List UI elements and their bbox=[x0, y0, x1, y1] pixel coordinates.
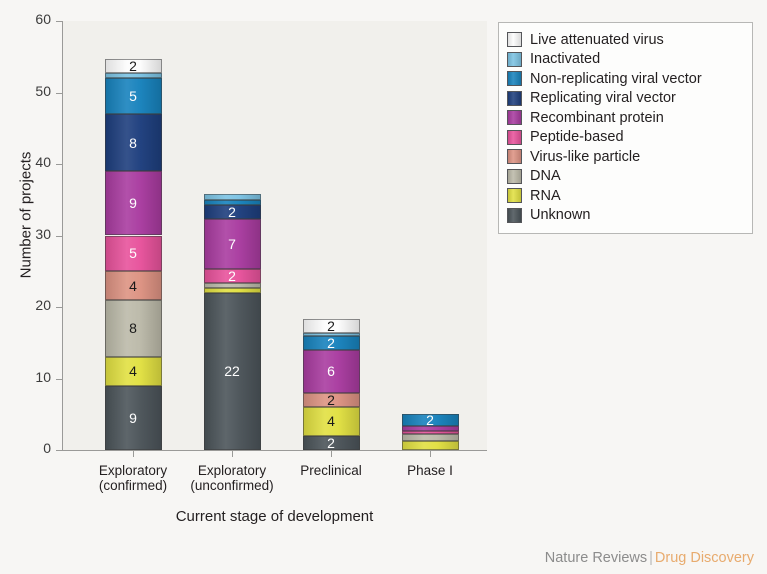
x-axis-tick-label-line: (unconfirmed) bbox=[167, 478, 297, 493]
x-axis-tick-mark bbox=[133, 450, 134, 457]
legend-item[interactable]: Unknown bbox=[507, 206, 744, 226]
bar-segment[interactable]: 2 bbox=[303, 319, 360, 333]
legend-swatch bbox=[507, 110, 522, 125]
x-axis-line bbox=[62, 450, 487, 451]
bar-segment-value: 5 bbox=[106, 89, 161, 103]
bar-stack[interactable]: 242622 bbox=[303, 21, 360, 450]
x-axis-tick-label: Phase I bbox=[365, 463, 495, 478]
y-axis-tick-label: 0 bbox=[43, 440, 51, 456]
y-axis-tick-label: 50 bbox=[35, 83, 51, 99]
x-axis-tick-mark bbox=[331, 450, 332, 457]
bar-segment-value: 6 bbox=[304, 364, 359, 378]
legend-item[interactable]: DNA bbox=[507, 167, 744, 187]
bar-segment-value: 2 bbox=[304, 336, 359, 350]
x-axis-tick-label-line: Phase I bbox=[365, 463, 495, 478]
bar-segment[interactable]: 8 bbox=[105, 114, 162, 171]
legend-item[interactable]: Peptide-based bbox=[507, 128, 744, 148]
footer-journal-name: Nature Reviews bbox=[545, 550, 647, 566]
footer-journal-title: Drug Discovery bbox=[655, 550, 754, 566]
legend-label: Peptide-based bbox=[530, 129, 624, 145]
y-axis-tick-mark bbox=[56, 379, 62, 380]
bar-segment[interactable]: 7 bbox=[204, 219, 261, 269]
bar-segment[interactable]: 4 bbox=[303, 407, 360, 436]
bar-segment[interactable]: 2 bbox=[303, 336, 360, 350]
legend-swatch bbox=[507, 32, 522, 47]
y-axis-tick-mark bbox=[56, 93, 62, 94]
bar-segment[interactable]: 9 bbox=[105, 386, 162, 450]
bar-segment[interactable] bbox=[204, 288, 261, 292]
legend-label: Live attenuated virus bbox=[530, 32, 664, 48]
legend-item[interactable]: Replicating viral vector bbox=[507, 89, 744, 109]
journal-footer: Nature Reviews|Drug Discovery bbox=[545, 550, 754, 566]
bar-segment[interactable] bbox=[204, 283, 261, 288]
bar-segment[interactable] bbox=[402, 434, 459, 441]
bar-segment[interactable]: 5 bbox=[105, 236, 162, 272]
bar-segment-value: 8 bbox=[106, 321, 161, 335]
bar-segment[interactable] bbox=[204, 200, 261, 204]
legend-item[interactable]: Virus-like particle bbox=[507, 147, 744, 167]
y-axis-tick: 30 bbox=[0, 236, 62, 237]
bar-segment[interactable]: 4 bbox=[105, 271, 162, 300]
bar-segment[interactable] bbox=[105, 73, 162, 78]
bar-segment-value: 7 bbox=[205, 237, 260, 251]
y-axis-tick-mark bbox=[56, 307, 62, 308]
legend-label: RNA bbox=[530, 188, 561, 204]
footer-separator: | bbox=[647, 550, 655, 566]
legend-swatch bbox=[507, 188, 522, 203]
bar-segment[interactable] bbox=[402, 426, 459, 430]
y-axis-tick-label: 10 bbox=[35, 369, 51, 385]
y-axis-tick-mark bbox=[56, 164, 62, 165]
bar-segment-value: 4 bbox=[106, 364, 161, 378]
bar-segment-value: 9 bbox=[106, 411, 161, 425]
bar-segment[interactable]: 2 bbox=[303, 393, 360, 407]
bar-segment-value: 2 bbox=[304, 393, 359, 407]
bar-stack[interactable]: 948459852 bbox=[105, 21, 162, 450]
bar-segment-value: 4 bbox=[304, 414, 359, 428]
y-axis-tick: 50 bbox=[0, 93, 62, 94]
y-axis-tick-label: 40 bbox=[35, 154, 51, 170]
legend-item[interactable]: Recombinant protein bbox=[507, 108, 744, 128]
bar-segment-value: 2 bbox=[205, 269, 260, 283]
bar-segment[interactable]: 2 bbox=[204, 269, 261, 283]
bar-segment[interactable] bbox=[402, 441, 459, 450]
bar-segment[interactable] bbox=[303, 333, 360, 335]
y-axis-tick-label: 30 bbox=[35, 226, 51, 242]
y-axis-title: Number of projects bbox=[18, 105, 35, 325]
bar-stack[interactable]: 22272 bbox=[204, 21, 261, 450]
legend-swatch bbox=[507, 169, 522, 184]
bar-segment-value: 2 bbox=[403, 414, 458, 426]
bar-segment[interactable]: 2 bbox=[105, 59, 162, 73]
bar-segment[interactable]: 4 bbox=[105, 357, 162, 386]
y-axis-tick: 40 bbox=[0, 164, 62, 165]
y-axis-tick-mark bbox=[56, 450, 62, 451]
legend-label: Replicating viral vector bbox=[530, 90, 676, 106]
legend-swatch bbox=[507, 52, 522, 67]
legend-swatch bbox=[507, 91, 522, 106]
y-axis-title-wrap: Number of projects bbox=[0, 0, 1, 1]
chart-legend: Live attenuated virusInactivatedNon-repl… bbox=[498, 22, 753, 234]
legend-swatch bbox=[507, 149, 522, 164]
legend-label: Unknown bbox=[530, 207, 590, 223]
legend-label: DNA bbox=[530, 168, 561, 184]
y-axis-tick-mark bbox=[56, 21, 62, 22]
y-axis-tick-label: 20 bbox=[35, 297, 51, 313]
legend-label: Virus-like particle bbox=[530, 149, 640, 165]
y-axis-tick: 20 bbox=[0, 307, 62, 308]
y-axis-tick: 10 bbox=[0, 379, 62, 380]
legend-item[interactable]: RNA bbox=[507, 186, 744, 206]
bar-segment-value: 2 bbox=[304, 436, 359, 450]
bar-segment-value: 2 bbox=[304, 319, 359, 333]
bar-segment[interactable]: 6 bbox=[303, 350, 360, 393]
bar-segment[interactable]: 2 bbox=[303, 436, 360, 450]
bar-segment[interactable]: 9 bbox=[105, 171, 162, 235]
bar-segment-value: 9 bbox=[106, 196, 161, 210]
bar-segment[interactable]: 22 bbox=[204, 293, 261, 450]
bar-segment[interactable]: 2 bbox=[204, 205, 261, 219]
x-axis-tick-mark bbox=[232, 450, 233, 457]
legend-item[interactable]: Non-replicating viral vector bbox=[507, 69, 744, 89]
bar-segment-value: 4 bbox=[106, 279, 161, 293]
y-axis-tick: 0 bbox=[0, 450, 62, 451]
legend-label: Non-replicating viral vector bbox=[530, 71, 702, 87]
legend-swatch bbox=[507, 208, 522, 223]
x-axis-tick-mark bbox=[430, 450, 431, 457]
legend-swatch bbox=[507, 71, 522, 86]
legend-swatch bbox=[507, 130, 522, 145]
bar-segment-value: 22 bbox=[205, 364, 260, 378]
bar-segment[interactable]: 2 bbox=[402, 414, 459, 426]
bar-segment-value: 5 bbox=[106, 246, 161, 260]
bar-segment[interactable] bbox=[204, 194, 261, 200]
bar-segment[interactable] bbox=[402, 431, 459, 434]
bar-segment[interactable]: 8 bbox=[105, 300, 162, 357]
bar-segment-value: 8 bbox=[106, 136, 161, 150]
bar-segment[interactable]: 5 bbox=[105, 78, 162, 114]
figure-root: Number of projects 0102030405060 Explora… bbox=[0, 0, 767, 574]
x-axis-title: Current stage of development bbox=[62, 508, 487, 525]
bar-segment-value: 2 bbox=[106, 59, 161, 73]
legend-label: Recombinant protein bbox=[530, 110, 664, 126]
bar-stack[interactable]: 2 bbox=[402, 21, 459, 450]
y-axis-tick-mark bbox=[56, 236, 62, 237]
legend-item[interactable]: Inactivated bbox=[507, 50, 744, 70]
bar-segment-value: 2 bbox=[205, 205, 260, 219]
y-axis-tick: 60 bbox=[0, 21, 62, 22]
legend-item[interactable]: Live attenuated virus bbox=[507, 30, 744, 50]
y-axis-tick-label: 60 bbox=[35, 11, 51, 27]
y-axis-line bbox=[62, 21, 63, 451]
legend-label: Inactivated bbox=[530, 51, 600, 67]
